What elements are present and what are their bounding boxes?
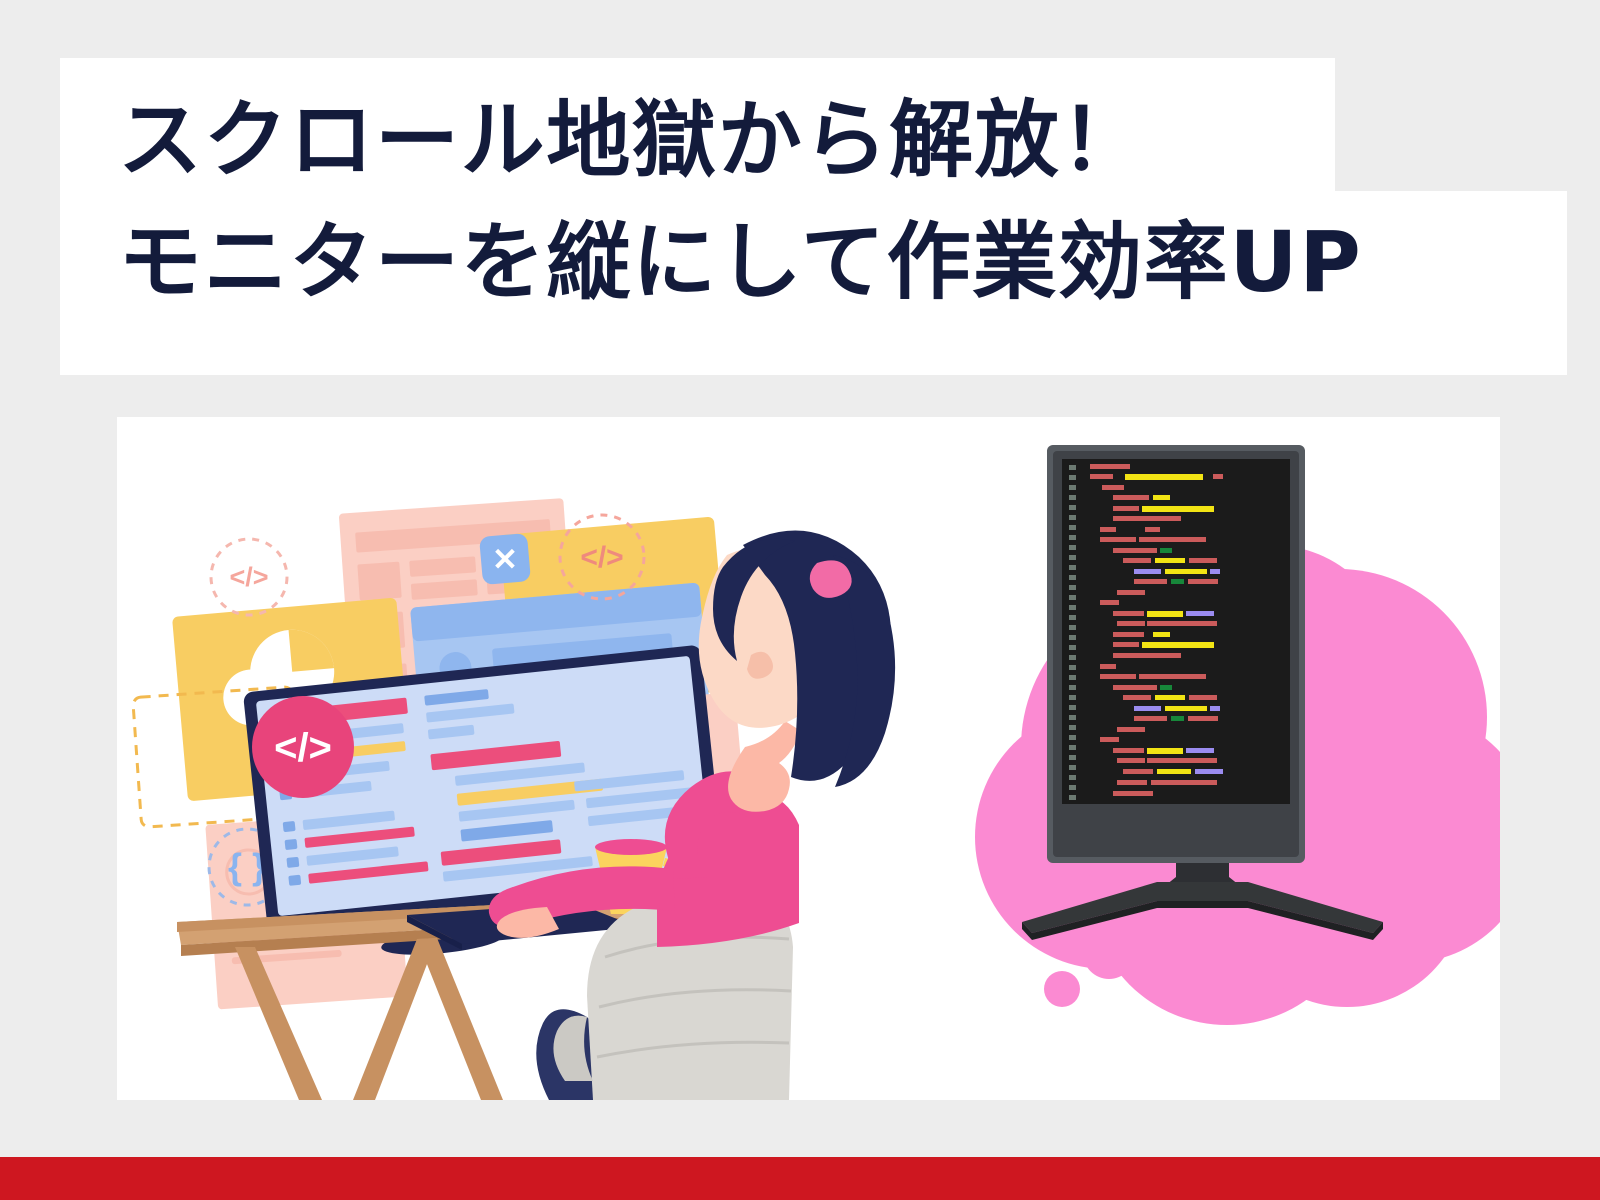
close-badge: ✕ bbox=[479, 533, 531, 585]
svg-text:</>: </> bbox=[274, 726, 332, 770]
page-title-line-2: モニターを縦にして作業効率UP bbox=[118, 218, 1362, 306]
slide-root: スクロール地獄から解放！ モニターを縦にして作業効率UP bbox=[0, 0, 1600, 1200]
svg-text:</>: </> bbox=[580, 541, 623, 574]
title-area: スクロール地獄から解放！ モニターを縦にして作業効率UP bbox=[0, 0, 1600, 400]
svg-text:</>: </> bbox=[229, 562, 268, 592]
hair-tie bbox=[810, 560, 852, 598]
illustration-panel: </> </> { } C++ bbox=[117, 417, 1500, 1100]
svg-text:✕: ✕ bbox=[492, 542, 518, 577]
thought-bubble-small-2 bbox=[1044, 971, 1080, 1007]
thought-bubble-small-1 bbox=[1083, 927, 1135, 979]
page-title-line-1: スクロール地獄から解放！ bbox=[118, 96, 1146, 184]
code-badge-solid-pink: </> bbox=[252, 696, 354, 798]
workspace-illustration: </> </> { } C++ bbox=[117, 417, 1500, 1100]
bottom-accent-bar bbox=[0, 1157, 1600, 1200]
